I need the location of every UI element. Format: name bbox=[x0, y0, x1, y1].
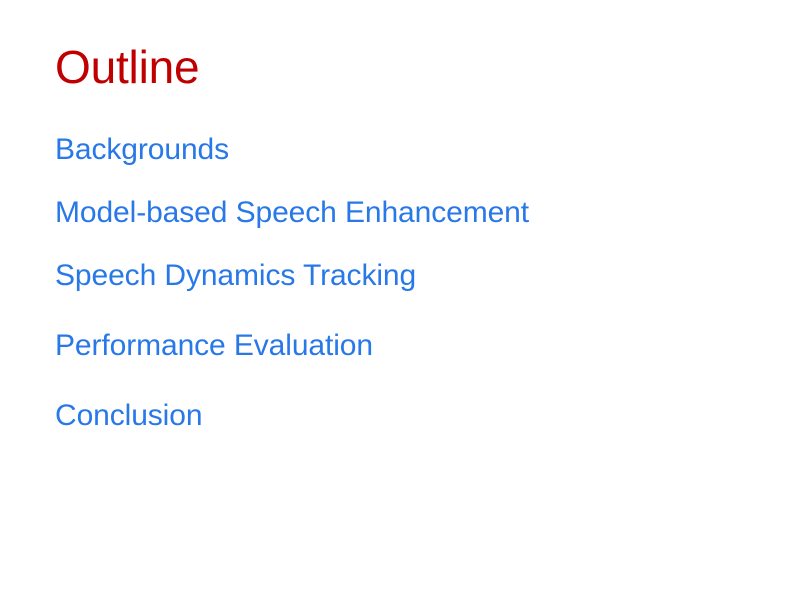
outline-item-speech-dynamics-tracking[interactable]: Speech Dynamics Tracking bbox=[55, 261, 416, 291]
outline-item-conclusion[interactable]: Conclusion bbox=[55, 401, 202, 431]
outline-item-performance-evaluation[interactable]: Performance Evaluation bbox=[55, 331, 373, 361]
presentation-slide: Outline Backgrounds Model-based Speech E… bbox=[0, 0, 800, 599]
outline-item-model-based-speech-enhancement[interactable]: Model-based Speech Enhancement bbox=[55, 198, 529, 228]
outline-item-backgrounds[interactable]: Backgrounds bbox=[55, 135, 229, 165]
outline-list: Backgrounds Model-based Speech Enhanceme… bbox=[0, 0, 800, 599]
